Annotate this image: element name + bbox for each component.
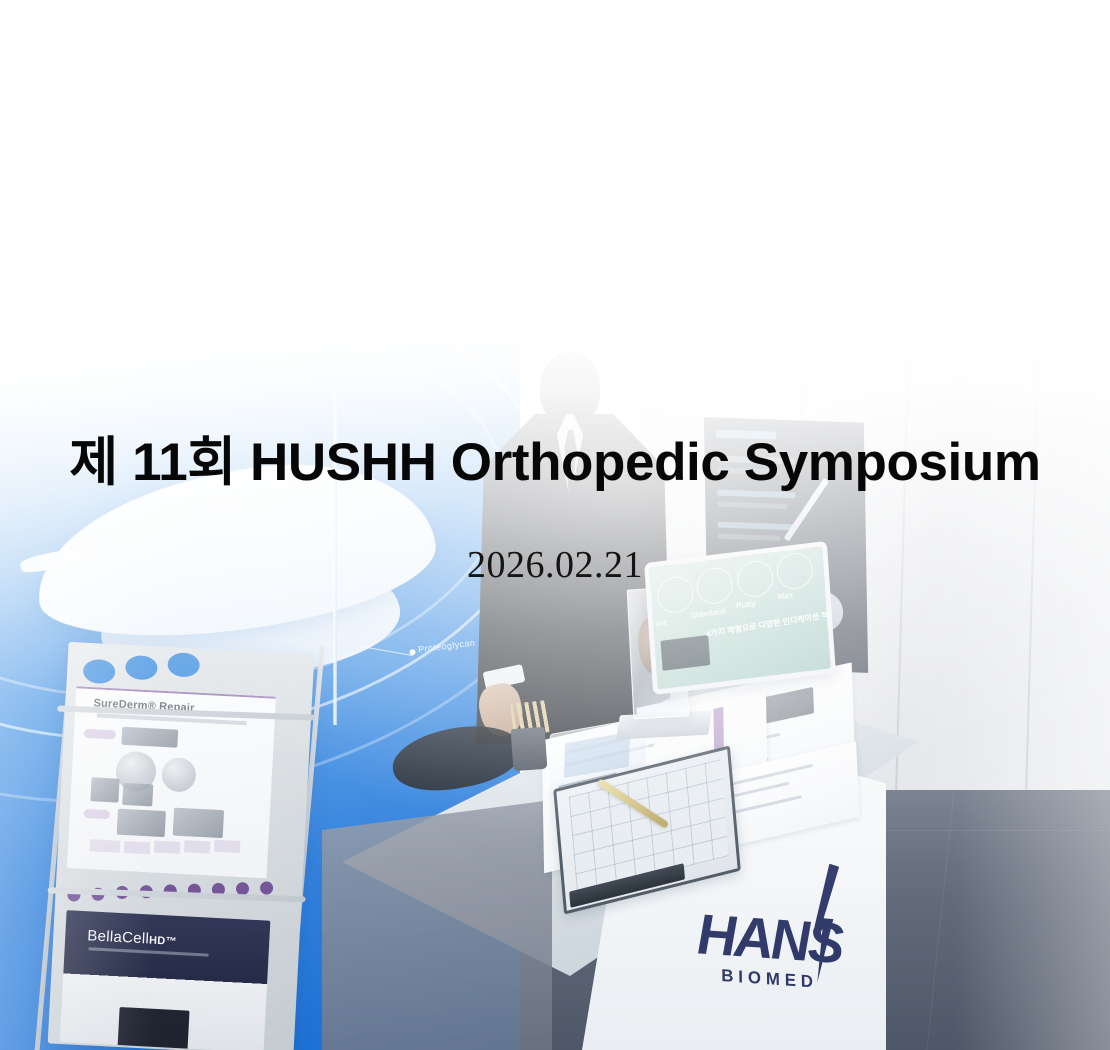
stand-cutout — [83, 659, 116, 685]
panel-text-row — [717, 502, 787, 509]
stand-cutout — [125, 655, 158, 681]
booth-photo-background: VEGF Proteoglycan Putty — [0, 0, 1110, 1050]
poster-table-cell — [124, 841, 151, 854]
event-date: 2026.02.21 — [0, 543, 1110, 587]
panel-text-row — [718, 534, 780, 541]
poster-scan-image — [173, 808, 224, 839]
booth-table-side — [322, 800, 552, 1050]
poster-image — [121, 727, 178, 748]
poster-anatomy-image — [161, 757, 197, 793]
poster-bellacell: BellaCellHD™ — [60, 910, 271, 1050]
poster-table-cell — [90, 839, 121, 853]
poster-table-cell — [214, 840, 241, 853]
poster-product-image — [117, 1007, 189, 1050]
poster-image — [122, 783, 153, 807]
stand-cutout — [167, 652, 200, 678]
bellacell-suffix: HD™ — [149, 934, 177, 947]
poster-section-tag — [83, 809, 109, 819]
roll-up-poster-stand: SureDerm® Repair — [48, 642, 315, 1050]
brochure-image — [762, 687, 814, 724]
poster-scan-image — [117, 809, 166, 837]
stand-frame: SureDerm® Repair — [48, 642, 315, 1050]
panel-text-row — [718, 522, 796, 531]
poster-section-tag — [84, 729, 116, 740]
logo-primary-text: HANS — [696, 900, 841, 976]
monitor-label-putty: Putty — [736, 599, 756, 610]
monitor-label-standard: Standard — [690, 607, 725, 620]
floor-tile-line — [926, 790, 954, 1050]
page-title: 제 11회 HUSHH Orthopedic Symposium — [0, 435, 1110, 491]
bellacell-name: BellaCell — [87, 927, 150, 947]
pen-cup — [511, 727, 548, 771]
symposium-banner: VEGF Proteoglycan Putty — [0, 0, 1110, 1050]
poster-image — [90, 777, 119, 802]
poster-table-cell — [154, 841, 181, 854]
monitor-label-flowable: ute — [655, 618, 668, 628]
monitor-label-max: Max — [777, 590, 793, 601]
poster-dot — [260, 881, 274, 895]
poster-table-cell — [184, 840, 211, 853]
poster-subtitle-bar — [89, 947, 209, 956]
poster-title-bellacell: BellaCellHD™ — [87, 927, 177, 949]
monitor-thumbnail — [661, 635, 711, 671]
